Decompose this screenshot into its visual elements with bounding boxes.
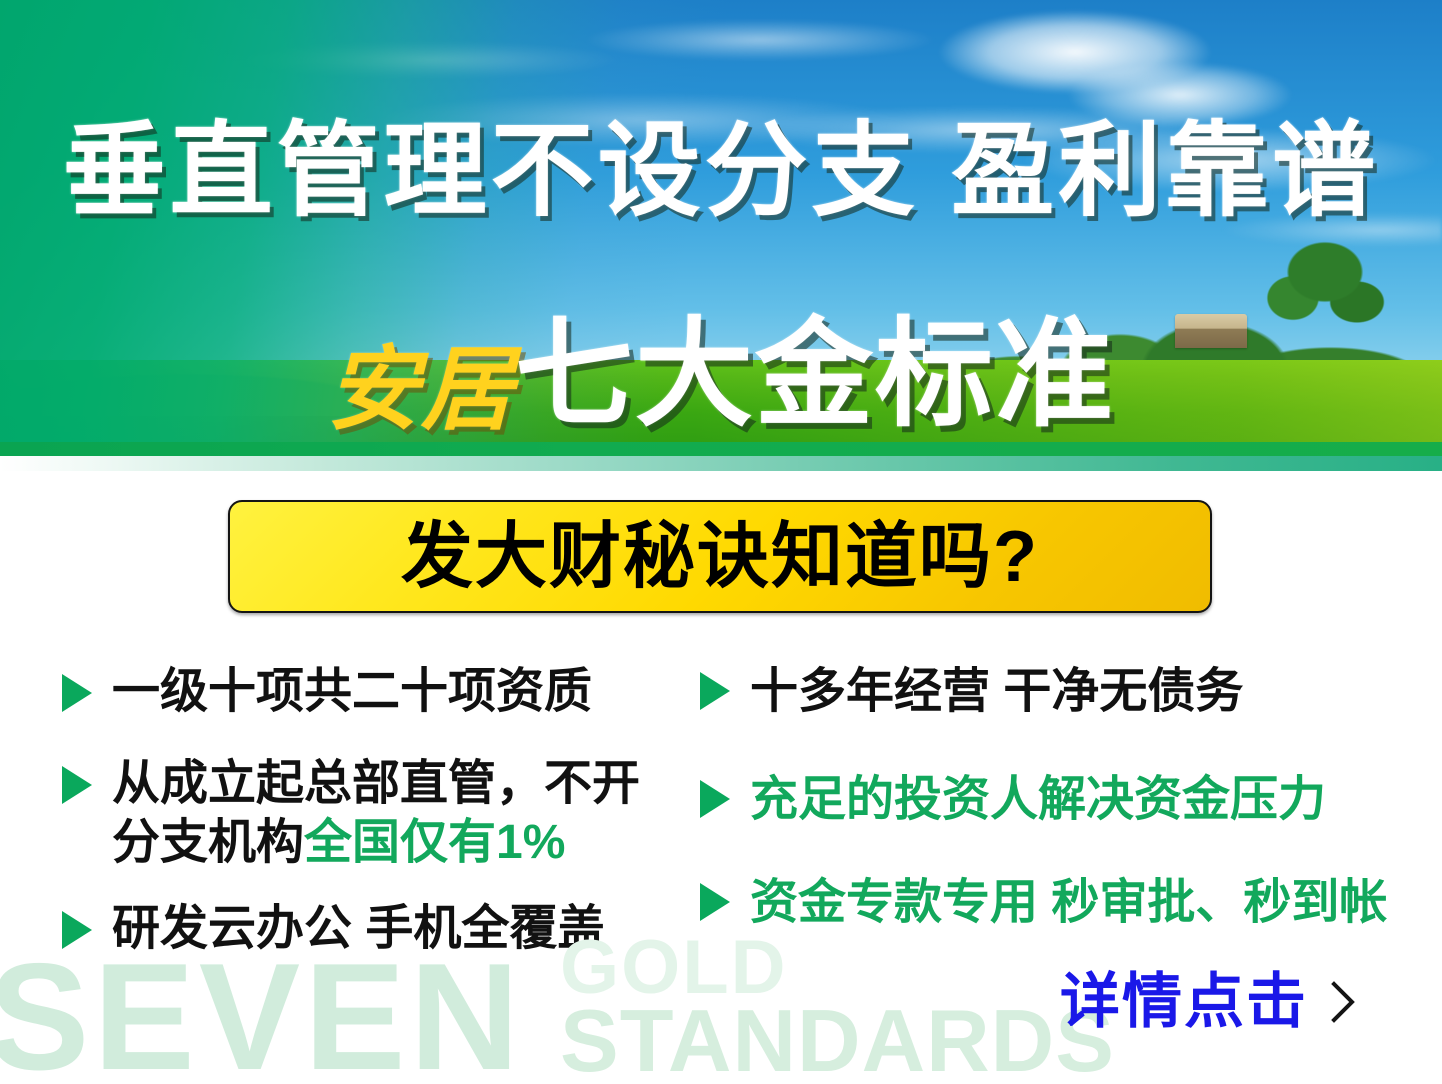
list-item: 充足的投资人解决资金压力 (700, 770, 1420, 830)
triangle-right-icon (700, 672, 730, 710)
details-cta-button[interactable]: 详情点击 (1060, 972, 1356, 1032)
list-item-label: 一级十项共二十项资质 (112, 662, 592, 722)
list-item-label: 资金专款专用 秒审批、秒到帐 (750, 873, 1387, 933)
triangle-right-icon (62, 674, 92, 712)
chevron-right-icon (1330, 980, 1356, 1024)
hero-fade-divider (0, 456, 1442, 471)
list-item-label: 研发云办公 手机全覆盖 (112, 899, 605, 959)
feature-column-left: 一级十项共二十项资质 从成立起总部直管，不开分支机构全国仅有1% 研发云办公 手… (62, 662, 692, 980)
feature-column-right: 十多年经营 干净无债务 充足的投资人解决资金压力 资金专款专用 秒审批、秒到帐 (700, 662, 1420, 955)
list-item: 一级十项共二十项资质 (62, 662, 692, 722)
triangle-right-icon (62, 766, 92, 804)
watermark-standards: STANDARDS (560, 990, 1115, 1084)
details-cta-label: 详情点击 (1060, 972, 1308, 1032)
triangle-right-icon (700, 883, 730, 921)
list-item: 十多年经营 干净无债务 (700, 662, 1420, 722)
list-item-label: 充足的投资人解决资金压力 (750, 770, 1326, 830)
list-item-label: 从成立起总部直管，不开分支机构全国仅有1% (112, 754, 672, 873)
list-item: 资金专款专用 秒审批、秒到帐 (700, 873, 1420, 933)
list-item: 研发云办公 手机全覆盖 (62, 899, 692, 959)
list-item-label-green: 全国仅有1% (304, 816, 565, 869)
triangle-right-icon (700, 780, 730, 818)
brand-name: 安居 (327, 339, 515, 441)
hero-banner: 垂直管理不设分支 盈利靠谱 安居七大金标准 (0, 0, 1442, 456)
hero-subtitle-text: 七大金标准 (515, 309, 1115, 441)
feature-columns: 一级十项共二十项资质 从成立起总部直管，不开分支机构全国仅有1% 研发云办公 手… (0, 662, 1442, 1002)
hero-subheadline: 安居七大金标准 (0, 278, 1442, 449)
list-item: 从成立起总部直管，不开分支机构全国仅有1% (62, 754, 692, 873)
ribbon-text: 发大财秘诀知道吗? (401, 521, 1039, 593)
triangle-right-icon (62, 911, 92, 949)
hero-headline: 垂直管理不设分支 盈利靠谱 (0, 116, 1442, 225)
list-item-label: 十多年经营 干净无债务 (750, 662, 1243, 722)
highlight-ribbon: 发大财秘诀知道吗? (228, 500, 1212, 613)
